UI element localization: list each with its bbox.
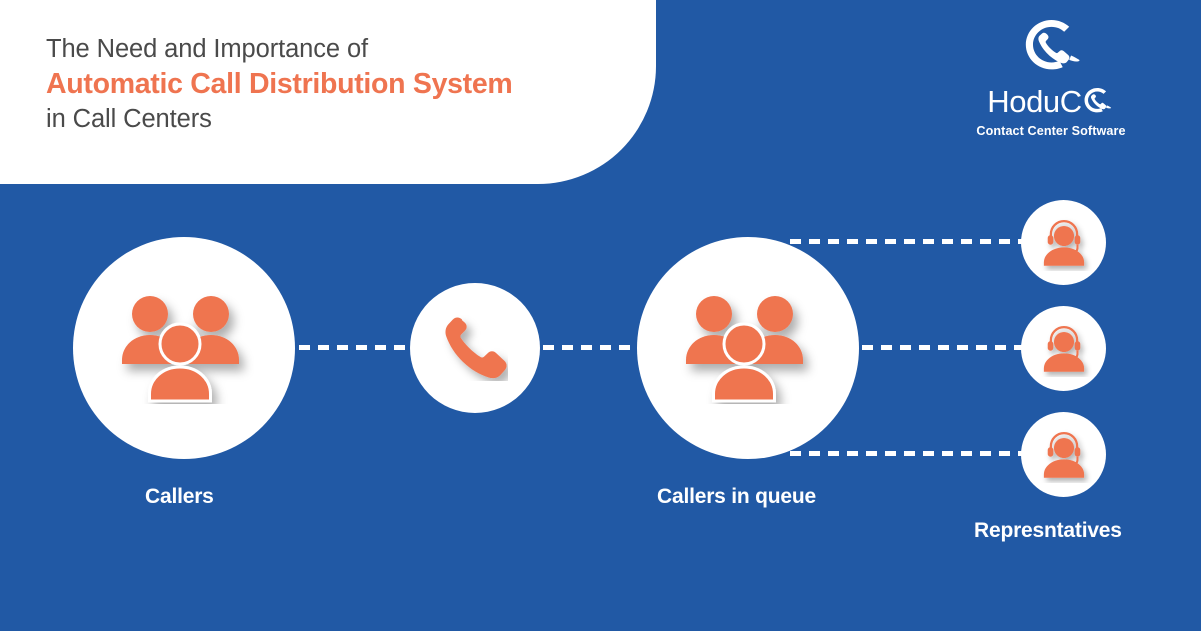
- phone-handset-icon: [442, 315, 508, 381]
- label-callers: Callers: [145, 485, 214, 509]
- label-callers-in-queue: Callers in queue: [657, 485, 816, 509]
- node-callers-in-queue: [637, 237, 859, 459]
- connector-call-to-queue: [543, 345, 635, 350]
- people-group-icon: [678, 292, 818, 404]
- page-title: The Need and Importance of Automatic Cal…: [46, 34, 636, 134]
- logo-wordmark-hodu-phone-circle-icon: [1081, 87, 1115, 117]
- connector-queue-to-rep-3: [790, 451, 1022, 456]
- title-line-1: The Need and Importance of: [46, 34, 636, 64]
- node-callers: [73, 237, 295, 459]
- agent-headset-icon: [1036, 215, 1092, 271]
- logo-tagline: Contact Center Software: [953, 124, 1149, 138]
- brand-logo: HoduC Contact Center Software: [953, 18, 1149, 138]
- agent-headset-icon: [1036, 427, 1092, 483]
- agent-headset-icon: [1036, 321, 1092, 377]
- node-representative-1: [1021, 200, 1106, 285]
- connector-queue-to-rep-2: [862, 345, 1022, 350]
- node-active-call: [410, 283, 540, 413]
- header-panel: The Need and Importance of Automatic Cal…: [0, 0, 656, 184]
- connector-callers-to-call: [299, 345, 407, 350]
- logo-wordmark: HoduC: [953, 86, 1149, 117]
- title-line-2-highlight: Automatic Call Distribution System: [46, 64, 636, 104]
- node-representative-2: [1021, 306, 1106, 391]
- label-representatives: Represntatives: [974, 519, 1122, 543]
- node-representative-3: [1021, 412, 1106, 497]
- logo-wordmark-text: HoduC: [987, 86, 1082, 117]
- people-group-icon: [114, 292, 254, 404]
- title-line-3: in Call Centers: [46, 104, 636, 134]
- infographic-canvas: The Need and Importance of Automatic Cal…: [0, 0, 1201, 631]
- connector-queue-to-rep-1: [790, 239, 1022, 244]
- hodu-phone-circle-icon: [1020, 18, 1082, 80]
